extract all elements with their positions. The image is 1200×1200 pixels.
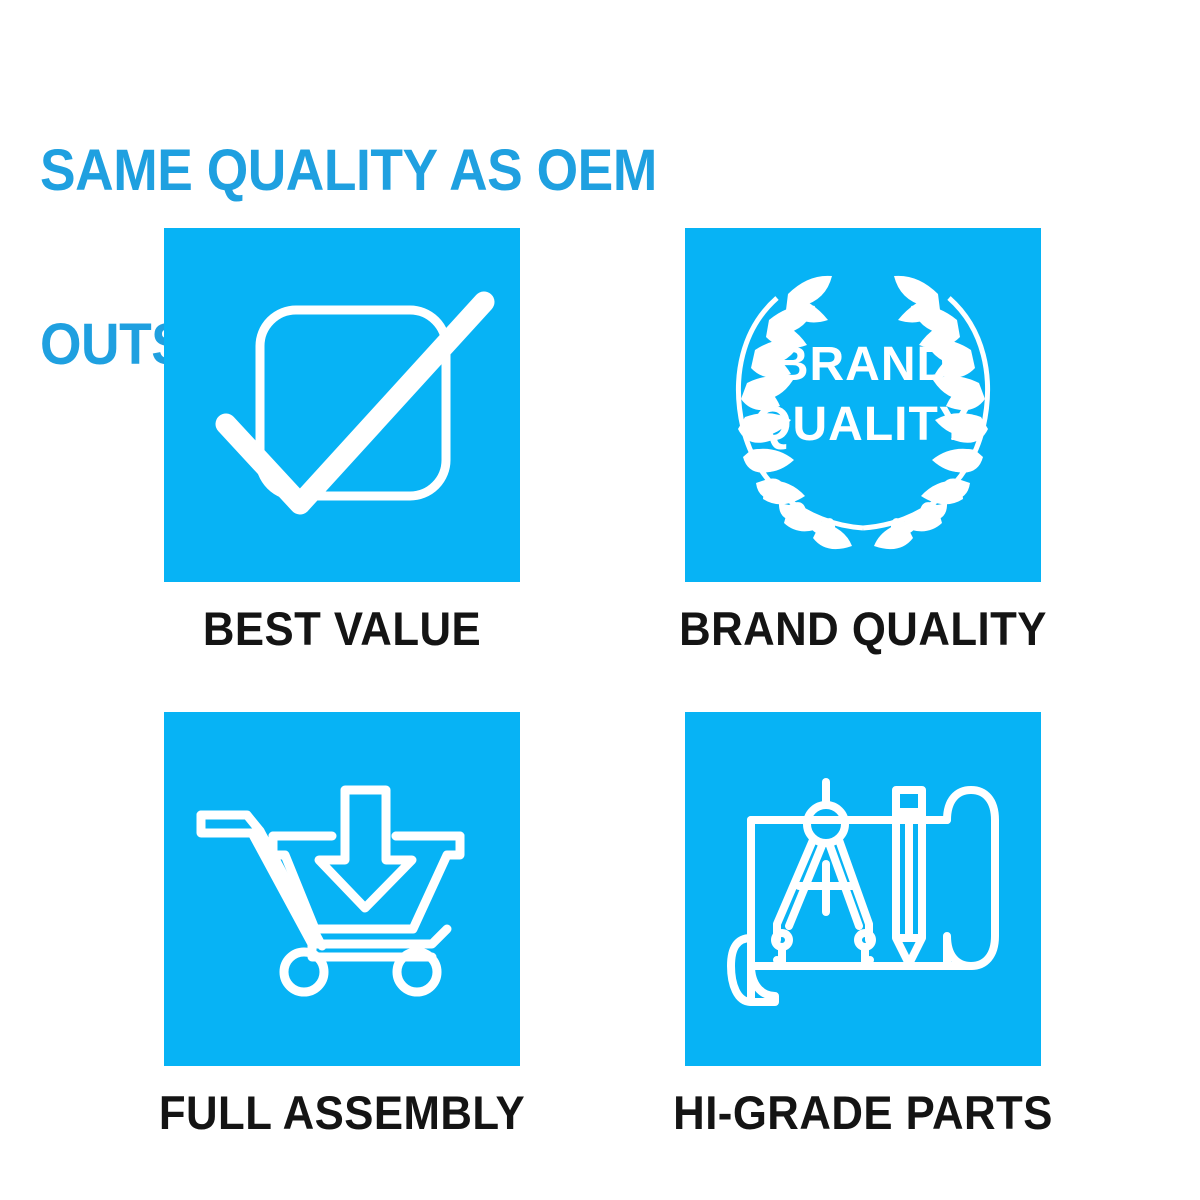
feature-label-brand-quality: BRAND QUALITY	[621, 604, 1105, 654]
feature-row-1: BEST VALUE	[0, 228, 1200, 712]
scroll-curl-right	[947, 790, 995, 966]
feature-row-2: FULL ASSEMBLY	[0, 712, 1200, 1196]
laurel-badge-line-2: QUALITY	[754, 398, 972, 451]
feature-tile-brand-quality: BRAND QUALITY	[685, 228, 1041, 582]
feature-cell-best-value: BEST VALUE	[82, 228, 602, 654]
laurel-wreath-icon: BRAND QUALITY	[685, 228, 1041, 582]
feature-cell-full-assembly: FULL ASSEMBLY	[82, 712, 602, 1138]
shopping-cart-download-icon	[164, 712, 520, 1066]
infographic-page: SAME QUALITY AS OEM OUTSIDE + INSIDE BES…	[0, 0, 1200, 1200]
feature-tile-hi-grade-parts	[685, 712, 1041, 1066]
feature-label-hi-grade-parts: HI-GRADE PARTS	[621, 1088, 1105, 1138]
checkbox-check-icon	[164, 228, 520, 582]
feature-grid: BEST VALUE	[0, 228, 1200, 1196]
feature-label-best-value: BEST VALUE	[100, 604, 584, 654]
laurel-badge-line-1: BRAND	[774, 338, 952, 391]
feature-cell-hi-grade-parts: HI-GRADE PARTS	[603, 712, 1123, 1138]
feature-cell-brand-quality: BRAND QUALITY BRAND QUALITY	[603, 228, 1123, 654]
feature-tile-full-assembly	[164, 712, 520, 1066]
download-arrow-icon	[319, 790, 412, 908]
page-title-line-1: SAME QUALITY AS OEM	[40, 142, 1015, 200]
pencil-icon	[896, 790, 922, 964]
feature-label-full-assembly: FULL ASSEMBLY	[100, 1088, 584, 1138]
feature-tile-best-value	[164, 228, 520, 582]
blueprint-compass-pencil-icon	[685, 712, 1041, 1066]
